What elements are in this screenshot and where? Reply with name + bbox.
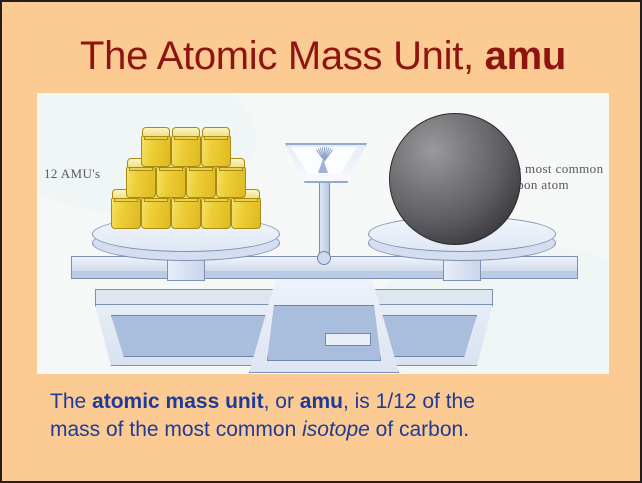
pedestal-name-plate xyxy=(325,333,371,346)
page-title: The Atomic Mass Unit, amu xyxy=(2,32,642,80)
caption-line1-part1: The xyxy=(50,390,92,413)
jar-lid xyxy=(172,127,200,137)
jar-lid xyxy=(142,127,170,137)
title-text: The Atomic Mass Unit, xyxy=(80,34,485,78)
caption-line2-part2: of carbon. xyxy=(370,418,469,441)
balance-pivot xyxy=(317,251,331,265)
caption-line2-part1: mass of the most common xyxy=(50,418,302,441)
figure-panel: 12 AMU's The most commoncarbon atom xyxy=(37,93,609,374)
jar xyxy=(141,127,169,165)
balance-scale xyxy=(37,93,609,374)
slide-canvas: The Atomic Mass Unit, amu 12 AMU's The m… xyxy=(0,0,642,483)
caption-line1-part2: , or xyxy=(264,390,300,413)
caption-text: The atomic mass unit, or amu, is 1/12 of… xyxy=(50,388,610,444)
caption-bold-amu: amu xyxy=(300,390,343,413)
caption-italic-isotope: isotope xyxy=(302,418,370,441)
jar xyxy=(171,127,199,165)
carbon-atom-sphere xyxy=(389,113,521,245)
balance-beam-underside xyxy=(71,271,578,279)
caption-line1-part3: , is 1/12 of the xyxy=(343,390,475,413)
title-emphasis: amu xyxy=(485,34,566,78)
jar-lid xyxy=(202,127,230,137)
caption-bold-atomic-mass-unit: atomic mass unit xyxy=(92,390,264,413)
gauge-pointer xyxy=(318,159,328,173)
jar xyxy=(201,127,229,165)
